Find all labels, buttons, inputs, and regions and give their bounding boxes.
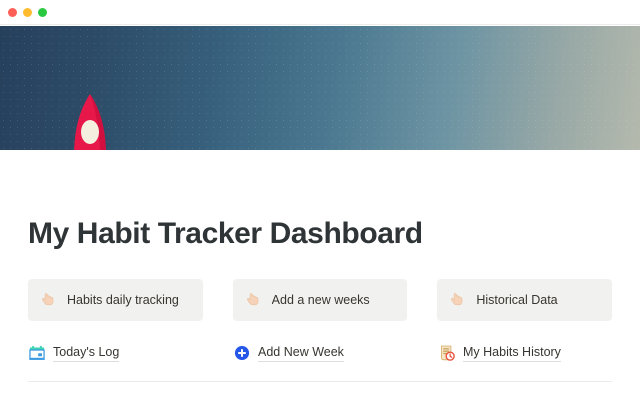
card-label: Historical Data (476, 292, 557, 308)
link-label: Today's Log (53, 344, 119, 362)
window-titlebar (0, 0, 640, 25)
close-window-button[interactable] (8, 8, 17, 17)
quick-action-card-row: Habits daily tracking Add a new weeks Hi… (28, 279, 612, 321)
traffic-light-controls (8, 8, 47, 17)
card-add-a-new-weeks[interactable]: Add a new weeks (233, 279, 408, 321)
page-title: My Habit Tracker Dashboard (28, 216, 423, 252)
point-down-hand-icon (245, 291, 263, 309)
link-todays-log[interactable]: Today's Log (28, 344, 233, 362)
hero-banner (0, 26, 640, 150)
link-add-new-week[interactable]: Add New Week (233, 344, 438, 362)
minimize-window-button[interactable] (23, 8, 32, 17)
card-habits-daily-tracking[interactable]: Habits daily tracking (28, 279, 203, 321)
plus-circle-icon (233, 344, 251, 362)
link-my-habits-history[interactable]: My Habits History (438, 344, 612, 362)
card-label: Add a new weeks (272, 292, 370, 308)
calendar-icon (28, 344, 46, 362)
link-label: My Habits History (463, 344, 561, 362)
card-historical-data[interactable]: Historical Data (437, 279, 612, 321)
point-down-hand-icon (449, 291, 467, 309)
rocket-illustration-icon (44, 88, 136, 150)
quick-link-row: Today's Log Add New Week (28, 344, 612, 362)
maximize-window-button[interactable] (38, 8, 47, 17)
page-content: My Habit Tracker Dashboard Habits daily … (0, 150, 640, 400)
card-label: Habits daily tracking (67, 292, 179, 308)
app-window: My Habit Tracker Dashboard Habits daily … (0, 0, 640, 400)
history-document-icon (438, 344, 456, 362)
link-label: Add New Week (258, 344, 344, 362)
content-divider (28, 381, 612, 382)
point-down-hand-icon (40, 291, 58, 309)
